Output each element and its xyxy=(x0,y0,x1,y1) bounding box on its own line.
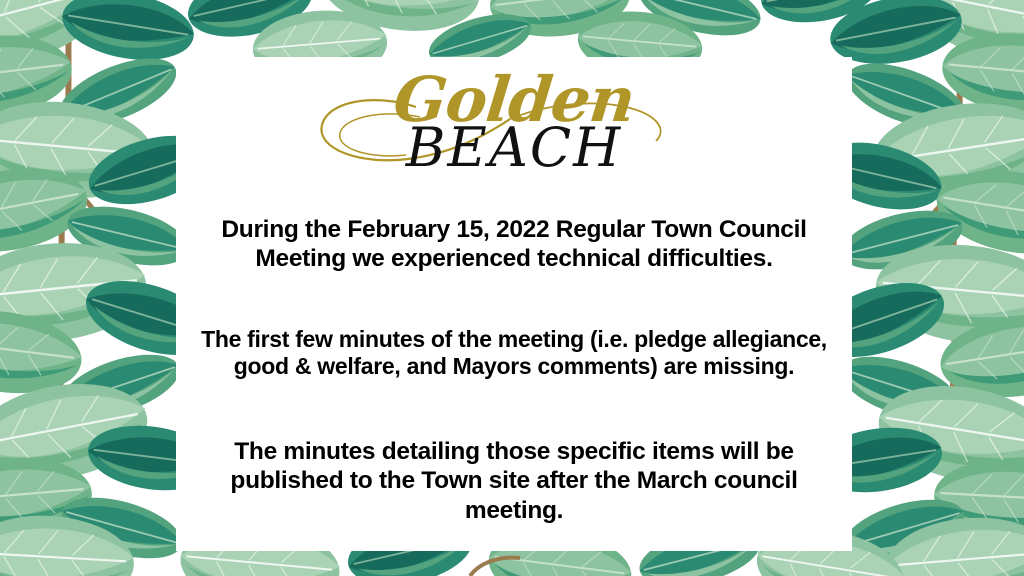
announcement-body: During the February 15, 2022 Regular Tow… xyxy=(194,181,834,525)
announcement-paragraph-1: During the February 15, 2022 Regular Tow… xyxy=(194,215,834,274)
golden-beach-logo: Golden BEACH xyxy=(304,73,724,181)
announcement-paragraph-2: The first few minutes of the meeting (i.… xyxy=(188,326,840,381)
announcement-slide: Golden BEACH During the February 15, 202… xyxy=(0,0,1024,576)
announcement-paragraph-3: The minutes detailing those specific ite… xyxy=(194,437,834,525)
logo-serif-word: BEACH xyxy=(304,121,724,175)
content-panel: Golden BEACH During the February 15, 202… xyxy=(176,57,852,551)
